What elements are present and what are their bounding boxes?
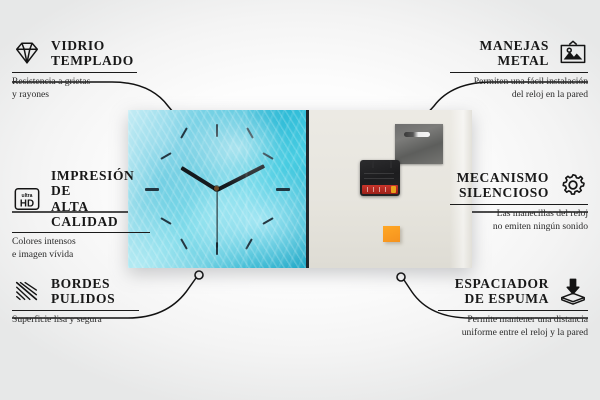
feature-title: VIDRIO TEMPLADO [51, 38, 134, 69]
mechanism-loop [372, 160, 392, 168]
clock-hand-hour [180, 166, 218, 192]
connector-dot-bordes [195, 271, 203, 279]
clock-front-panel [128, 110, 306, 268]
clock-center-hub [214, 186, 219, 191]
battery-stripe [385, 187, 386, 192]
feature-description: Permiten una fácil instalación del reloj… [450, 76, 588, 102]
tick-6 [216, 242, 218, 255]
battery-stripe [373, 187, 374, 192]
feature-rule [438, 310, 588, 311]
feature-vidrio-templado: VIDRIO TEMPLADO Resistencia a grietas y … [12, 38, 147, 102]
battery-stripe [379, 187, 380, 192]
tick-3 [276, 188, 290, 191]
feature-impresion-alta-calidad: ultra HD IMPRESIÓN DE ALTA CALIDAD Color… [12, 168, 154, 262]
feature-header: MECANISMO SILENCIOSO [450, 170, 588, 201]
foam-spacer-icon [558, 277, 588, 305]
connector-dot-espaciador [397, 273, 405, 281]
tick-12 [216, 124, 218, 137]
hanger-slot [404, 132, 430, 137]
tick-1 [246, 127, 254, 138]
feature-description: Colores intensos e imagen vívida [12, 236, 154, 262]
feature-rule [12, 310, 139, 311]
clock-hand-second [216, 190, 217, 248]
product-image-group [128, 110, 472, 268]
battery-compartment [362, 185, 398, 194]
feature-header: MANEJAS METAL [450, 38, 588, 69]
feature-header: ultra HD IMPRESIÓN DE ALTA CALIDAD [12, 168, 154, 229]
tick-11 [180, 127, 188, 138]
tick-10 [160, 152, 171, 160]
clock-hand-minute [216, 164, 265, 192]
tick-2 [262, 152, 273, 160]
feature-espaciador-espuma: ESPACIADOR DE ESPUMA Permite mantener un… [438, 276, 588, 340]
clock-mechanism [360, 160, 400, 196]
clock-dial [128, 110, 306, 268]
clock-back-panel [306, 110, 472, 268]
feature-rule [450, 72, 588, 73]
feature-title: BORDES PULIDOS [51, 276, 115, 307]
ultra-hd-icon: ultra HD [12, 185, 42, 213]
feature-title: IMPRESIÓN DE ALTA CALIDAD [51, 168, 154, 229]
feature-description: Las manecillas del reloj no emiten ningú… [450, 208, 588, 234]
feature-rule [450, 204, 588, 205]
foam-spacer [383, 226, 400, 242]
feature-bordes-pulidos: BORDES PULIDOS Superficie lisa y segura [12, 276, 147, 327]
gear-icon [558, 171, 588, 199]
feature-description: Permite mantener una distancia uniforme … [438, 314, 588, 340]
mechanism-line [364, 178, 394, 179]
tick-5 [245, 238, 253, 249]
mechanism-line [364, 173, 394, 174]
metal-hanger-plate [395, 124, 443, 164]
polished-edges-icon [12, 277, 42, 305]
feature-rule [12, 232, 150, 233]
tick-4 [262, 217, 273, 225]
feature-description: Resistencia a grietas y rayones [12, 76, 147, 102]
svg-text:HD: HD [20, 198, 34, 209]
tick-7 [180, 238, 188, 249]
feature-header: ESPACIADOR DE ESPUMA [438, 276, 588, 307]
infographic-canvas: VIDRIO TEMPLADO Resistencia a grietas y … [0, 0, 600, 400]
feature-mecanismo-silencioso: MECANISMO SILENCIOSO Las manecillas del … [450, 170, 588, 234]
feature-title: MANEJAS METAL [480, 38, 549, 69]
feature-rule [12, 72, 137, 73]
feature-header: VIDRIO TEMPLADO [12, 38, 147, 69]
battery-stripe [367, 187, 368, 192]
feature-header: BORDES PULIDOS [12, 276, 147, 307]
feature-title: ESPACIADOR DE ESPUMA [455, 276, 549, 307]
tick-8 [160, 217, 171, 225]
feature-description: Superficie lisa y segura [12, 314, 147, 327]
feature-title: MECANISMO SILENCIOSO [457, 170, 549, 201]
diamond-icon [12, 39, 42, 67]
feature-manejas-metal: MANEJAS METAL Permiten una fácil instala… [450, 38, 588, 102]
picture-frame-icon [558, 39, 588, 67]
